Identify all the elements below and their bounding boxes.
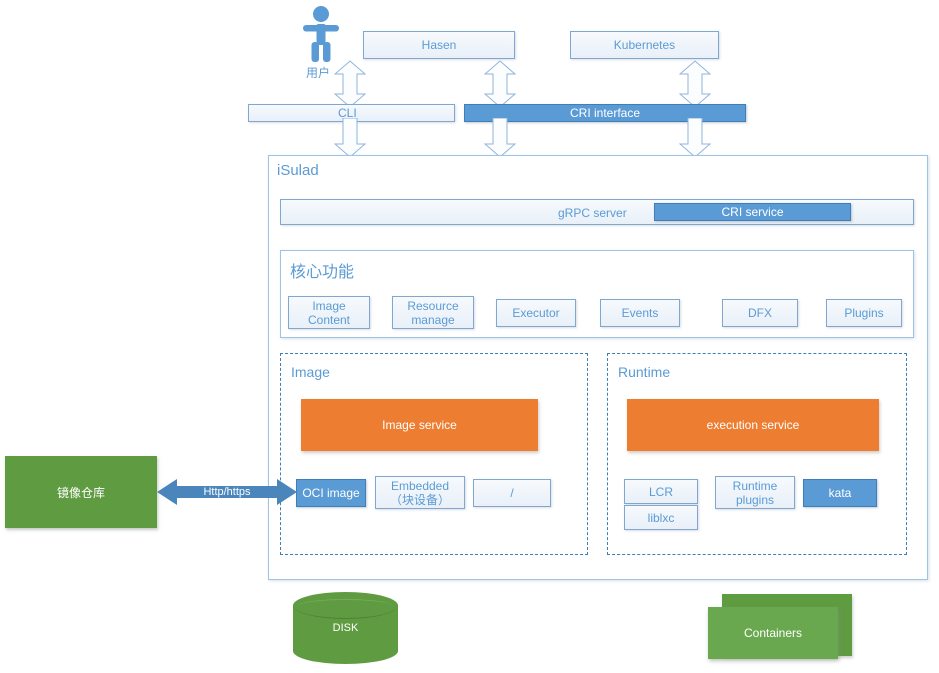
diagram-canvas: 用户 Hasen Kubernetes CLI CRI interface [0,0,939,673]
core-module-line1: Image [312,299,345,313]
execution-service-box[interactable]: execution service [627,399,879,451]
core-module-plugins[interactable]: Plugins [826,299,902,327]
isulad-title: iSulad [277,162,319,179]
embedded-box[interactable]: Embedded （块设备） [375,476,465,509]
kubernetes-label: Kubernetes [614,38,675,52]
liblxc-box[interactable]: liblxc [624,505,698,530]
core-module-line1: Resource [407,299,458,313]
core-module-image-content[interactable]: Image Content [288,296,370,329]
lcr-label: LCR [649,485,673,499]
core-module-executor[interactable]: Executor [496,299,576,327]
core-module-resource-manage[interactable]: Resource manage [392,296,474,329]
arrow-hasen-to-cri [484,60,516,108]
grpc-server-label: gRPC server [558,206,627,220]
core-module-dfx[interactable]: DFX [722,299,798,327]
core-functions-title: 核心功能 [290,258,354,282]
http-https-label: Http/https [157,486,297,498]
arrow-cri-to-isulad-left [484,118,516,158]
hasen-box[interactable]: Hasen [363,31,515,59]
http-https-arrow: Http/https [157,478,297,506]
runtime-plugins-line1: Runtime [733,479,778,493]
image-section-panel [280,353,588,555]
disk-cylinder: DISK [293,592,398,664]
runtime-plugins-line2: plugins [736,493,774,507]
hasen-label: Hasen [422,38,457,52]
core-module-events[interactable]: Events [600,299,680,327]
embedded-line1: Embedded [391,479,449,493]
arrow-cri-to-isulad-right [679,118,711,158]
containers-box[interactable]: Containers [708,607,838,659]
core-module-line1: Events [622,306,659,320]
arrow-kubernetes-to-cri [679,60,711,108]
user-label: 用户 [306,64,330,81]
oci-image-label: OCI image [302,486,359,500]
cri-interface-label: CRI interface [570,106,640,120]
runtime-plugins-box[interactable]: Runtime plugins [715,476,795,509]
core-module-line1: Plugins [844,306,883,320]
runtime-section-title: Runtime [618,364,670,380]
image-backend-slash-box[interactable]: / [473,479,551,507]
image-service-box[interactable]: Image service [301,399,538,451]
image-registry-box[interactable]: 镜像仓库 [5,456,157,528]
core-functions-panel [280,250,914,338]
kata-label: kata [829,486,852,500]
containers-label: Containers [744,626,802,640]
image-backend-slash-label: / [510,486,513,500]
kata-box[interactable]: kata [803,479,877,507]
arrow-cli-to-isulad [334,118,366,158]
core-module-line1: DFX [748,306,772,320]
cri-service-box[interactable]: CRI service [654,203,851,221]
cri-service-label: CRI service [721,205,783,219]
image-registry-label: 镜像仓库 [57,484,105,501]
arrow-user-to-cli [334,60,366,108]
core-module-line1: Executor [512,306,559,320]
person-icon [297,4,345,62]
kubernetes-box[interactable]: Kubernetes [570,31,719,59]
lcr-box[interactable]: LCR [624,479,698,504]
execution-service-label: execution service [707,418,800,432]
core-module-line2: manage [411,313,454,327]
oci-image-box[interactable]: OCI image [296,479,366,507]
disk-label: DISK [293,622,398,634]
image-section-title: Image [291,364,330,380]
core-module-line2: Content [308,313,350,327]
image-service-label: Image service [382,418,457,432]
liblxc-label: liblxc [648,511,675,525]
embedded-line2: （块设备） [390,493,450,507]
